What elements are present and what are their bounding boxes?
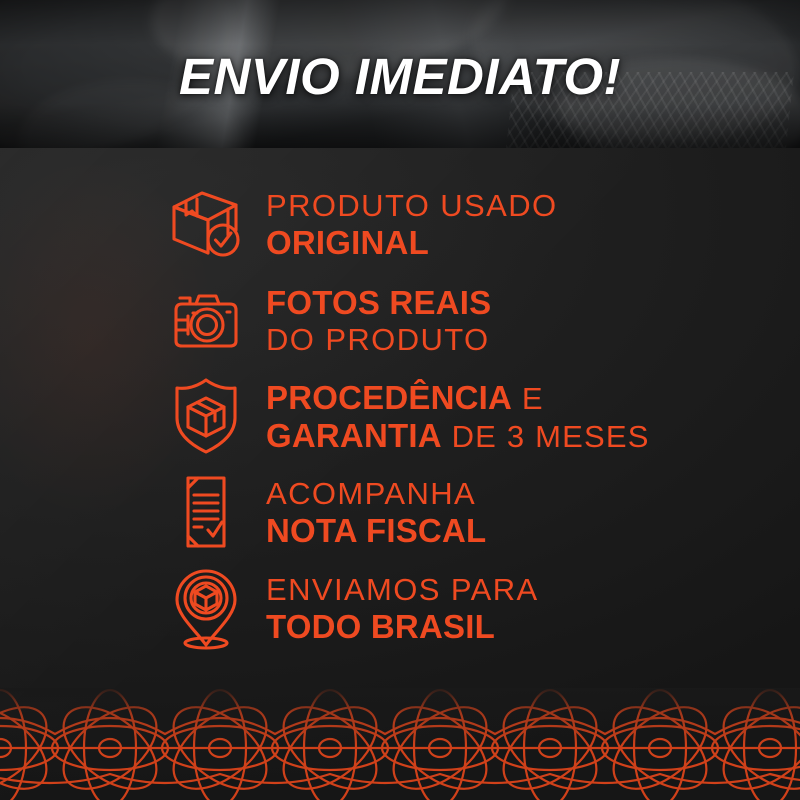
feature-line-1: PROCEDÊNCIA E: [266, 381, 650, 414]
package-box-check-icon: [166, 185, 252, 263]
invoice-document-check-icon: [166, 472, 252, 552]
feature-line-1: ENVIAMOS PARA: [266, 574, 539, 605]
feature-line-2: NOTA FISCAL: [266, 514, 486, 547]
feature-text: ENVIAMOS PARA TODO BRASIL: [266, 574, 539, 643]
feature-item-todo-brasil: ENVIAMOS PARA TODO BRASIL: [0, 560, 800, 656]
feature-list: PRODUTO USADO ORIGINAL: [0, 176, 800, 656]
feature-line-2: GARANTIA DE 3 MESES: [266, 419, 650, 452]
feature-line-2-light: DE 3 MESES: [442, 419, 650, 454]
feature-text: ACOMPANHA NOTA FISCAL: [266, 478, 486, 547]
camera-icon: [166, 286, 252, 354]
feature-line-1: PRODUTO USADO: [266, 190, 558, 221]
feature-item-fotos-reais: FOTOS REAIS DO PRODUTO: [0, 272, 800, 368]
banner-header: ENVIO IMEDIATO!: [0, 0, 800, 148]
map-pin-box-icon: [166, 565, 252, 651]
promo-banner: ENVIO IMEDIATO!: [0, 0, 800, 800]
feature-line-2: ORIGINAL: [266, 226, 558, 259]
feature-text: FOTOS REAIS DO PRODUTO: [266, 286, 491, 355]
feature-line-1-bold: PROCEDÊNCIA: [266, 379, 512, 416]
headline-text: ENVIO IMEDIATO!: [0, 2, 800, 148]
feature-item-produto-usado: PRODUTO USADO ORIGINAL: [0, 176, 800, 272]
feature-line-2: DO PRODUTO: [266, 324, 491, 355]
feature-item-nota-fiscal: ACOMPANHA NOTA FISCAL: [0, 464, 800, 560]
feature-line-2: TODO BRASIL: [266, 610, 539, 643]
feature-item-procedencia-garantia: PROCEDÊNCIA E GARANTIA DE 3 MESES: [0, 368, 800, 464]
feature-line-2-bold: GARANTIA: [266, 417, 442, 454]
feature-text: PROCEDÊNCIA E GARANTIA DE 3 MESES: [266, 381, 650, 452]
footer-ornament-pattern: [0, 688, 800, 800]
feature-line-1-light: E: [512, 381, 544, 416]
feature-line-1: FOTOS REAIS: [266, 286, 491, 319]
feature-text: PRODUTO USADO ORIGINAL: [266, 190, 558, 259]
feature-line-1: ACOMPANHA: [266, 478, 486, 509]
shield-box-icon: [166, 374, 252, 458]
